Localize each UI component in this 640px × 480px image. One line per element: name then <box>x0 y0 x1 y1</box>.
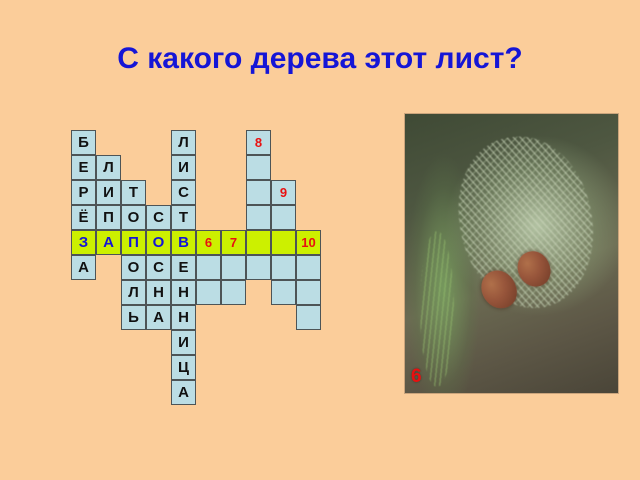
crossword-cell-r8-c4[interactable]: И <box>171 330 196 355</box>
page-title: С какого дерева этот лист? <box>0 42 640 76</box>
slide-canvas: С какого дерева этот лист? БЛ8ЕЛИРИТС9ЁП… <box>0 0 640 480</box>
crossword-cell-r6-c2[interactable]: Л <box>121 280 146 305</box>
crossword-cell-r4-c1[interactable]: А <box>96 230 121 255</box>
crossword-cell-r3-c2[interactable]: О <box>121 205 146 230</box>
cell-number: 6 <box>205 236 212 249</box>
crossword-cell-r4-c3[interactable]: О <box>146 230 171 255</box>
crossword-cell-r1-c7[interactable] <box>246 155 271 180</box>
crossword-cell-r6-c9[interactable] <box>296 280 321 305</box>
cell-letter: О <box>153 235 165 250</box>
cell-letter: Л <box>103 160 114 175</box>
crossword-cell-r4-c2[interactable]: П <box>121 230 146 255</box>
crossword-cell-r4-c9[interactable]: 10 <box>296 230 321 255</box>
crossword-cell-r7-c2[interactable]: Ь <box>121 305 146 330</box>
cell-letter: О <box>128 260 140 275</box>
crossword-cell-r5-c7[interactable] <box>246 255 271 280</box>
cell-letter: А <box>78 260 89 275</box>
cell-letter: Ь <box>128 310 139 325</box>
cell-number: 10 <box>301 236 315 249</box>
crossword-cell-r0-c0[interactable]: Б <box>71 130 96 155</box>
crossword-cell-r3-c7[interactable] <box>246 205 271 230</box>
crossword-cell-r3-c0[interactable]: Ё <box>71 205 96 230</box>
cell-letter: Т <box>129 185 138 200</box>
crossword-cell-r2-c1[interactable]: И <box>96 180 121 205</box>
cell-letter: Н <box>178 285 189 300</box>
cell-number: 7 <box>230 236 237 249</box>
crossword-cell-r1-c1[interactable]: Л <box>96 155 121 180</box>
crossword-cell-r0-c7[interactable]: 8 <box>246 130 271 155</box>
crossword-cell-r2-c8[interactable]: 9 <box>271 180 296 205</box>
crossword-cell-r7-c4[interactable]: Н <box>171 305 196 330</box>
crossword-cell-r6-c3[interactable]: Н <box>146 280 171 305</box>
crossword-cell-r0-c4[interactable]: Л <box>171 130 196 155</box>
cell-letter: А <box>103 235 114 250</box>
crossword-cell-r5-c5[interactable] <box>196 255 221 280</box>
cell-letter: И <box>178 335 189 350</box>
crossword-cell-r7-c3[interactable]: А <box>146 305 171 330</box>
cell-letter: Б <box>78 135 89 150</box>
crossword-cell-r6-c8[interactable] <box>271 280 296 305</box>
photo-stem <box>420 231 454 387</box>
crossword-cell-r7-c9[interactable] <box>296 305 321 330</box>
crossword-cell-r5-c8[interactable] <box>271 255 296 280</box>
cell-letter: Л <box>128 285 139 300</box>
crossword-cell-r5-c9[interactable] <box>296 255 321 280</box>
crossword-cell-r2-c4[interactable]: С <box>171 180 196 205</box>
crossword-cell-r1-c4[interactable]: И <box>171 155 196 180</box>
crossword-cell-r3-c1[interactable]: П <box>96 205 121 230</box>
crossword-cell-r6-c5[interactable] <box>196 280 221 305</box>
crossword-cell-r4-c5[interactable]: 6 <box>196 230 221 255</box>
cell-letter: З <box>79 235 88 250</box>
cell-letter: С <box>153 260 164 275</box>
crossword-cell-r3-c3[interactable]: С <box>146 205 171 230</box>
crossword-cell-r5-c3[interactable]: С <box>146 255 171 280</box>
crossword-cell-r10-c4[interactable]: А <box>171 380 196 405</box>
cell-letter: И <box>103 185 114 200</box>
cell-letter: Л <box>178 135 189 150</box>
cell-letter: Т <box>179 210 188 225</box>
cell-letter: Е <box>178 260 188 275</box>
tree-photo: 6 <box>404 113 619 394</box>
cell-number: 9 <box>280 186 287 199</box>
cell-letter: Ц <box>178 360 189 375</box>
crossword-cell-r3-c4[interactable]: Т <box>171 205 196 230</box>
cell-number: 8 <box>255 136 262 149</box>
photo-number-label: 6 <box>411 366 422 388</box>
cell-letter: С <box>178 185 189 200</box>
crossword-cell-r2-c0[interactable]: Р <box>71 180 96 205</box>
crossword-cell-r9-c4[interactable]: Ц <box>171 355 196 380</box>
crossword-cell-r4-c0[interactable]: З <box>71 230 96 255</box>
cell-letter: Е <box>78 160 88 175</box>
crossword-cell-r2-c2[interactable]: Т <box>121 180 146 205</box>
crossword-cell-r2-c7[interactable] <box>246 180 271 205</box>
cell-letter: Н <box>178 310 189 325</box>
cell-letter: П <box>103 210 114 225</box>
cell-letter: П <box>128 235 139 250</box>
crossword-cell-r3-c8[interactable] <box>271 205 296 230</box>
crossword-cell-r5-c2[interactable]: О <box>121 255 146 280</box>
crossword-cell-r4-c4[interactable]: В <box>171 230 196 255</box>
cell-letter: Ё <box>78 210 88 225</box>
crossword-cell-r4-c6[interactable]: 7 <box>221 230 246 255</box>
cell-letter: А <box>153 310 164 325</box>
crossword-cell-r5-c6[interactable] <box>221 255 246 280</box>
crossword-cell-r6-c4[interactable]: Н <box>171 280 196 305</box>
crossword-cell-r6-c6[interactable] <box>221 280 246 305</box>
cell-letter: Н <box>153 285 164 300</box>
crossword-cell-r1-c0[interactable]: Е <box>71 155 96 180</box>
crossword-cell-r4-c8[interactable] <box>271 230 296 255</box>
crossword-cell-r4-c7[interactable] <box>246 230 271 255</box>
cell-letter: С <box>153 210 164 225</box>
crossword-cell-r5-c0[interactable]: А <box>71 255 96 280</box>
crossword-grid[interactable]: БЛ8ЕЛИРИТС9ЁПОСТЗАПОВ6710АОСЕЛННЬАНИЦА <box>71 130 326 415</box>
cell-letter: О <box>128 210 140 225</box>
cell-letter: Р <box>78 185 88 200</box>
cell-letter: А <box>178 385 189 400</box>
cell-letter: В <box>178 235 189 250</box>
crossword-cell-r5-c4[interactable]: Е <box>171 255 196 280</box>
cell-letter: И <box>178 160 189 175</box>
